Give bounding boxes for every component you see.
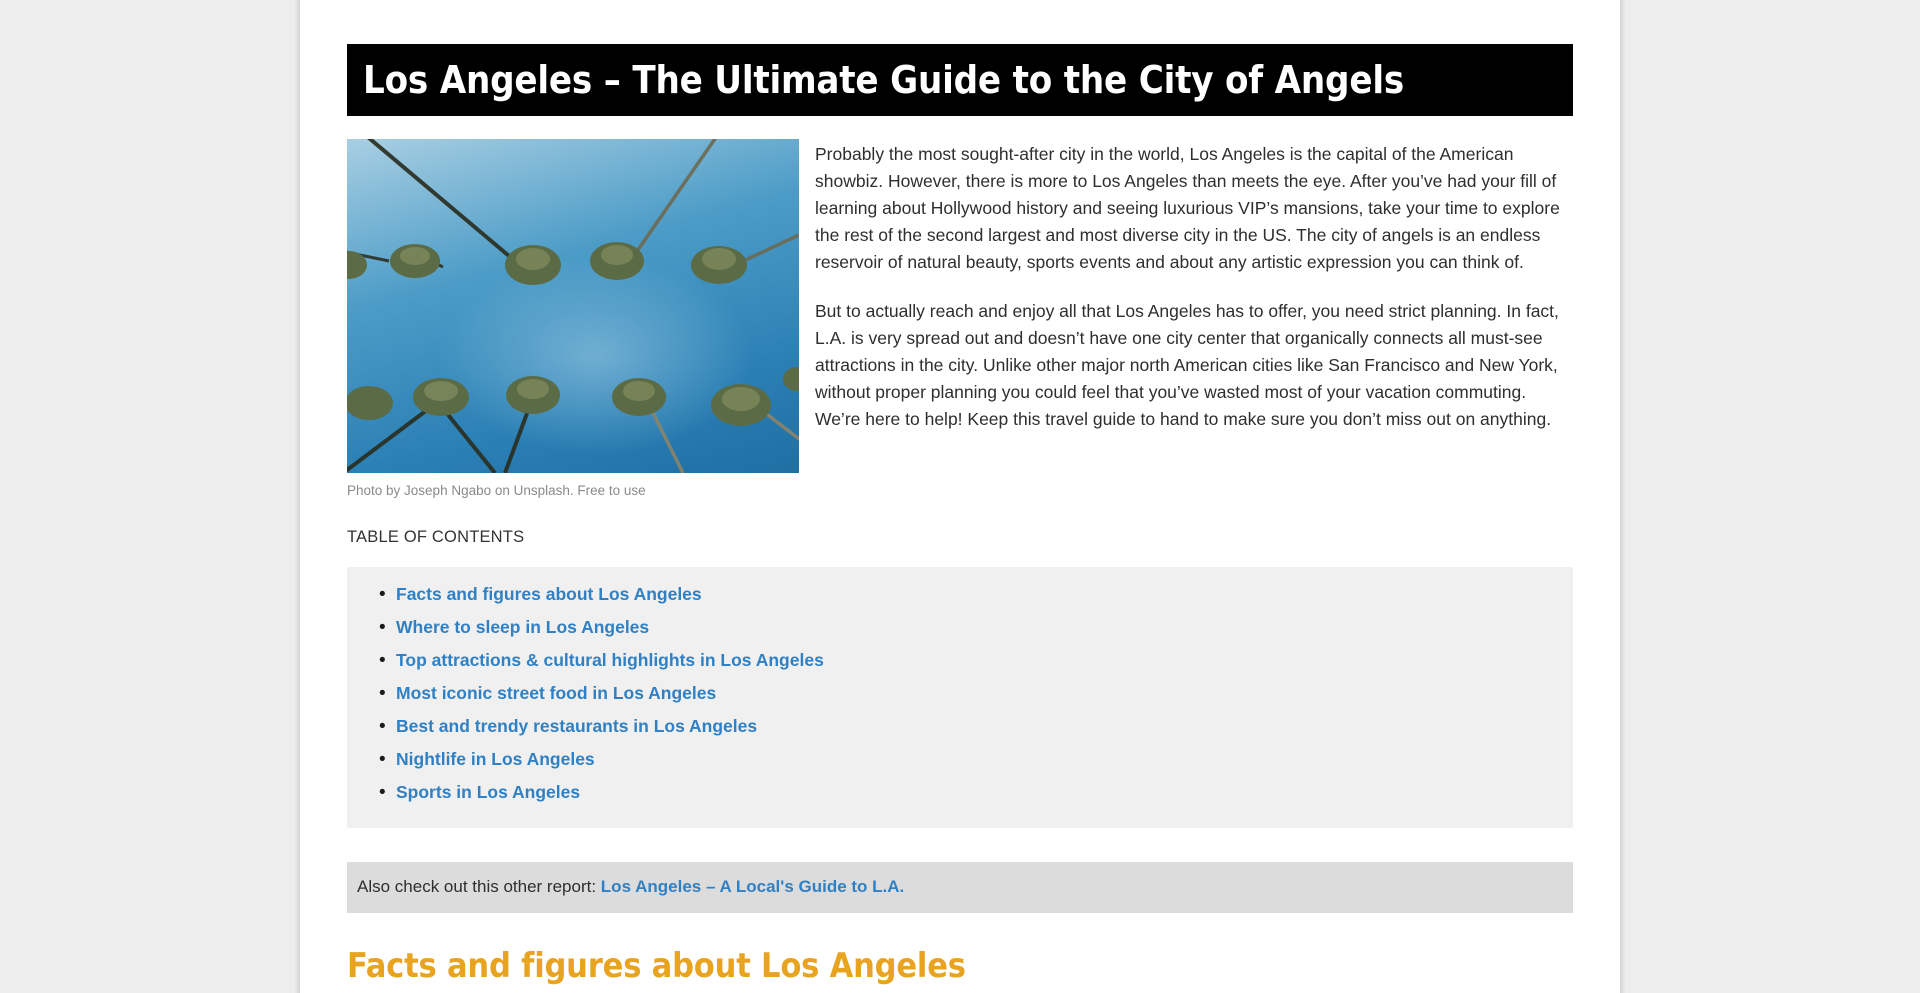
toc-link-street-food[interactable]: Most iconic street food in Los Angeles xyxy=(396,683,716,703)
toc-link-sports[interactable]: Sports in Los Angeles xyxy=(396,782,580,802)
intro-paragraph-2: But to actually reach and enjoy all that… xyxy=(815,298,1573,433)
page-gutter-left xyxy=(0,0,300,993)
table-of-contents-list: Facts and figures about Los Angeles Wher… xyxy=(347,581,1573,812)
palm-trees-illustration xyxy=(347,139,799,473)
page-gutter-right xyxy=(1620,0,1920,993)
intro-paragraph-1: Probably the most sought-after city in t… xyxy=(815,141,1573,276)
related-report-link[interactable]: Los Angeles – A Local's Guide to L.A. xyxy=(601,877,904,896)
toc-link-restaurants[interactable]: Best and trendy restaurants in Los Angel… xyxy=(396,716,757,736)
related-report-box: Also check out this other report: Los An… xyxy=(347,862,1573,913)
table-of-contents-label: TABLE OF CONTENTS xyxy=(347,528,1573,547)
document-content: Los Angeles – The Ultimate Guide to the … xyxy=(347,0,1573,993)
toc-link-nightlife[interactable]: Nightlife in Los Angeles xyxy=(396,749,595,769)
list-item[interactable]: Most iconic street food in Los Angeles xyxy=(396,680,1573,713)
page-title-bar: Los Angeles – The Ultimate Guide to the … xyxy=(347,44,1573,116)
list-item[interactable]: Sports in Los Angeles xyxy=(396,779,1573,812)
list-item[interactable]: Facts and figures about Los Angeles xyxy=(396,581,1573,614)
list-item[interactable]: Best and trendy restaurants in Los Angel… xyxy=(396,713,1573,746)
browser-viewport: Los Angeles – The Ultimate Guide to the … xyxy=(0,0,1920,993)
section-heading-facts-and-figures: Facts and figures about Los Angeles xyxy=(347,946,1573,986)
intro-figure: Photo by Joseph Ngabo on Unsplash. Free … xyxy=(347,139,799,498)
intro-text: Probably the most sought-after city in t… xyxy=(799,139,1573,433)
photo-caption: Photo by Joseph Ngabo on Unsplash. Free … xyxy=(347,483,799,498)
page-title: Los Angeles – The Ultimate Guide to the … xyxy=(363,58,1404,102)
toc-link-where-to-sleep[interactable]: Where to sleep in Los Angeles xyxy=(396,617,649,637)
toc-link-facts-and-figures[interactable]: Facts and figures about Los Angeles xyxy=(396,584,702,604)
list-item[interactable]: Nightlife in Los Angeles xyxy=(396,746,1573,779)
intro-section: Photo by Joseph Ngabo on Unsplash. Free … xyxy=(347,139,1573,498)
list-item[interactable]: Where to sleep in Los Angeles xyxy=(396,614,1573,647)
list-item[interactable]: Top attractions & cultural highlights in… xyxy=(396,647,1573,680)
palm-trees-photo xyxy=(347,139,799,473)
table-of-contents-box: Facts and figures about Los Angeles Wher… xyxy=(347,567,1573,828)
document-page: Los Angeles – The Ultimate Guide to the … xyxy=(300,0,1620,993)
toc-link-top-attractions[interactable]: Top attractions & cultural highlights in… xyxy=(396,650,824,670)
related-report-prefix: Also check out this other report: xyxy=(357,877,596,896)
